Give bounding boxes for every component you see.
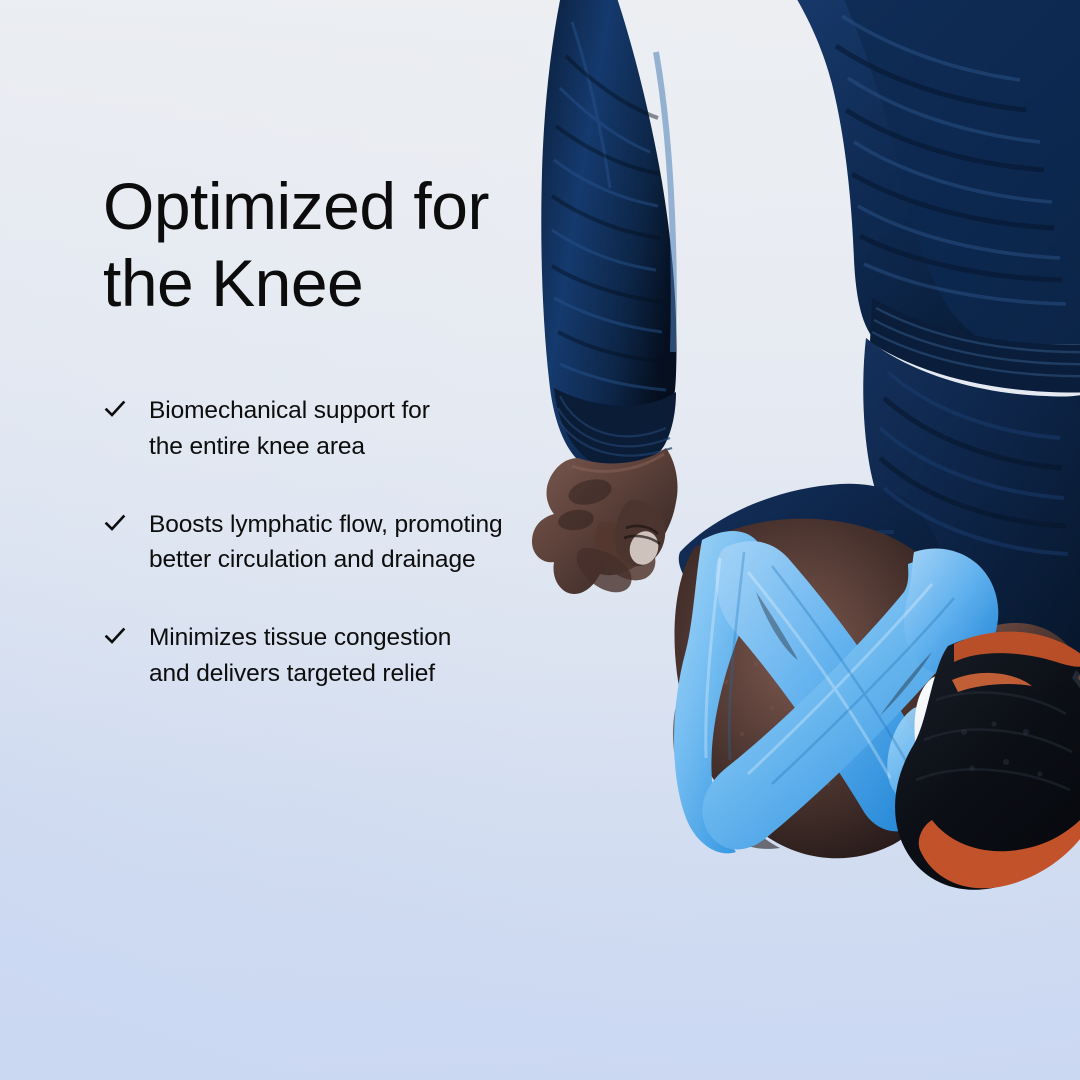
- list-item: Minimizes tissue congestion and delivers…: [103, 620, 573, 692]
- check-icon: [103, 511, 127, 541]
- benefit-text: Boosts lymphatic flow, promoting better …: [149, 507, 503, 579]
- list-item: Biomechanical support for the entire kne…: [103, 393, 573, 465]
- page-title: Optimized for the Knee: [103, 168, 573, 321]
- poster-canvas: Optimized for the Knee Biomechanical sup…: [0, 0, 1080, 1080]
- copy-block: Optimized for the Knee Biomechanical sup…: [103, 168, 573, 692]
- benefit-text: Minimizes tissue congestion and delivers…: [149, 620, 451, 692]
- check-icon: [103, 624, 127, 654]
- check-icon: [103, 397, 127, 427]
- list-item: Boosts lymphatic flow, promoting better …: [103, 507, 573, 579]
- benefit-text: Biomechanical support for the entire kne…: [149, 393, 430, 465]
- benefit-list: Biomechanical support for the entire kne…: [103, 393, 573, 692]
